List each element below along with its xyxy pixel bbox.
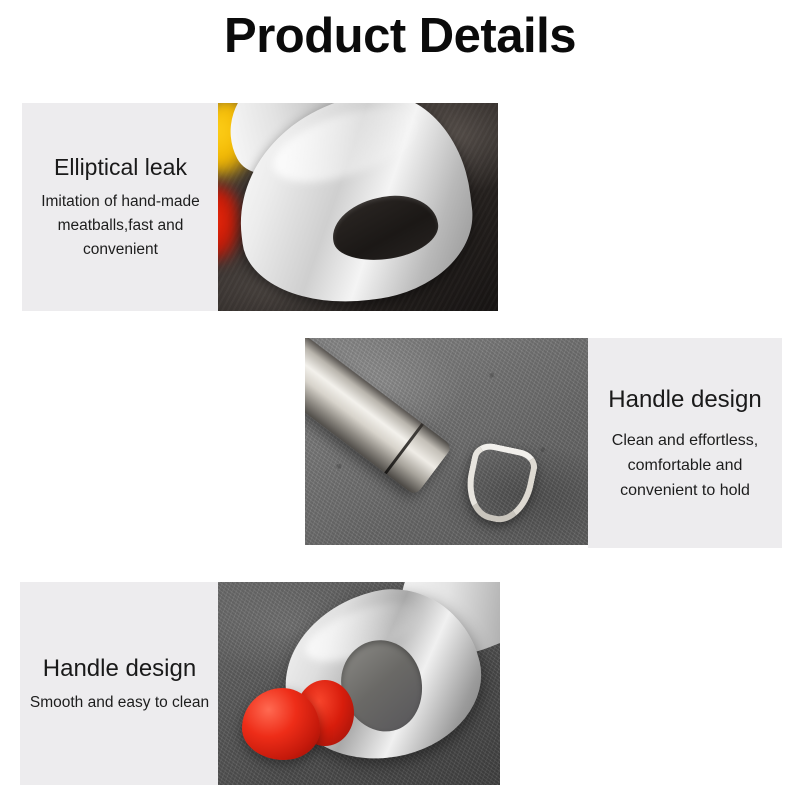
product-photo-scoop-tomato — [218, 582, 500, 785]
product-photo-handle-loop — [305, 338, 588, 545]
panel-body-line: Imitation of hand-made — [41, 190, 200, 214]
detail-panel-handle-loop: Handle design Clean and effortless, comf… — [305, 338, 782, 548]
panel-text-block: Elliptical leak Imitation of hand-made m… — [22, 103, 219, 311]
product-photo-scoop-head — [218, 103, 498, 311]
red-meatball-front — [242, 688, 320, 760]
panel-body-line: Clean and effortless, — [612, 428, 758, 453]
detail-panel-elliptical-leak: Elliptical leak Imitation of hand-made m… — [22, 103, 498, 311]
panel-body: Smooth and easy to clean — [30, 691, 209, 714]
panel-body-line: convenient to hold — [612, 478, 758, 503]
panel-body-line: Smooth and easy to clean — [30, 691, 209, 714]
panel-body: Imitation of hand-made meatballs,fast an… — [41, 190, 200, 262]
panel-text-block: Handle design Clean and effortless, comf… — [588, 338, 782, 548]
panel-body-line: meatballs,fast and — [41, 214, 200, 238]
product-details-page: Product Details Elliptical leak Imitatio… — [0, 0, 800, 800]
panel-heading: Elliptical leak — [54, 152, 187, 182]
panel-body-line: convenient — [41, 238, 200, 262]
panel-text-block: Handle design Smooth and easy to clean — [20, 582, 219, 785]
detail-panel-handle-smooth: Handle design Smooth and easy to clean — [20, 582, 500, 785]
panel-body: Clean and effortless, comfortable and co… — [612, 428, 758, 503]
panel-body-line: comfortable and — [612, 453, 758, 478]
steel-scoop-shape — [230, 103, 482, 311]
panel-heading: Handle design — [43, 653, 196, 685]
page-title: Product Details — [0, 8, 800, 64]
panel-heading: Handle design — [608, 384, 761, 416]
